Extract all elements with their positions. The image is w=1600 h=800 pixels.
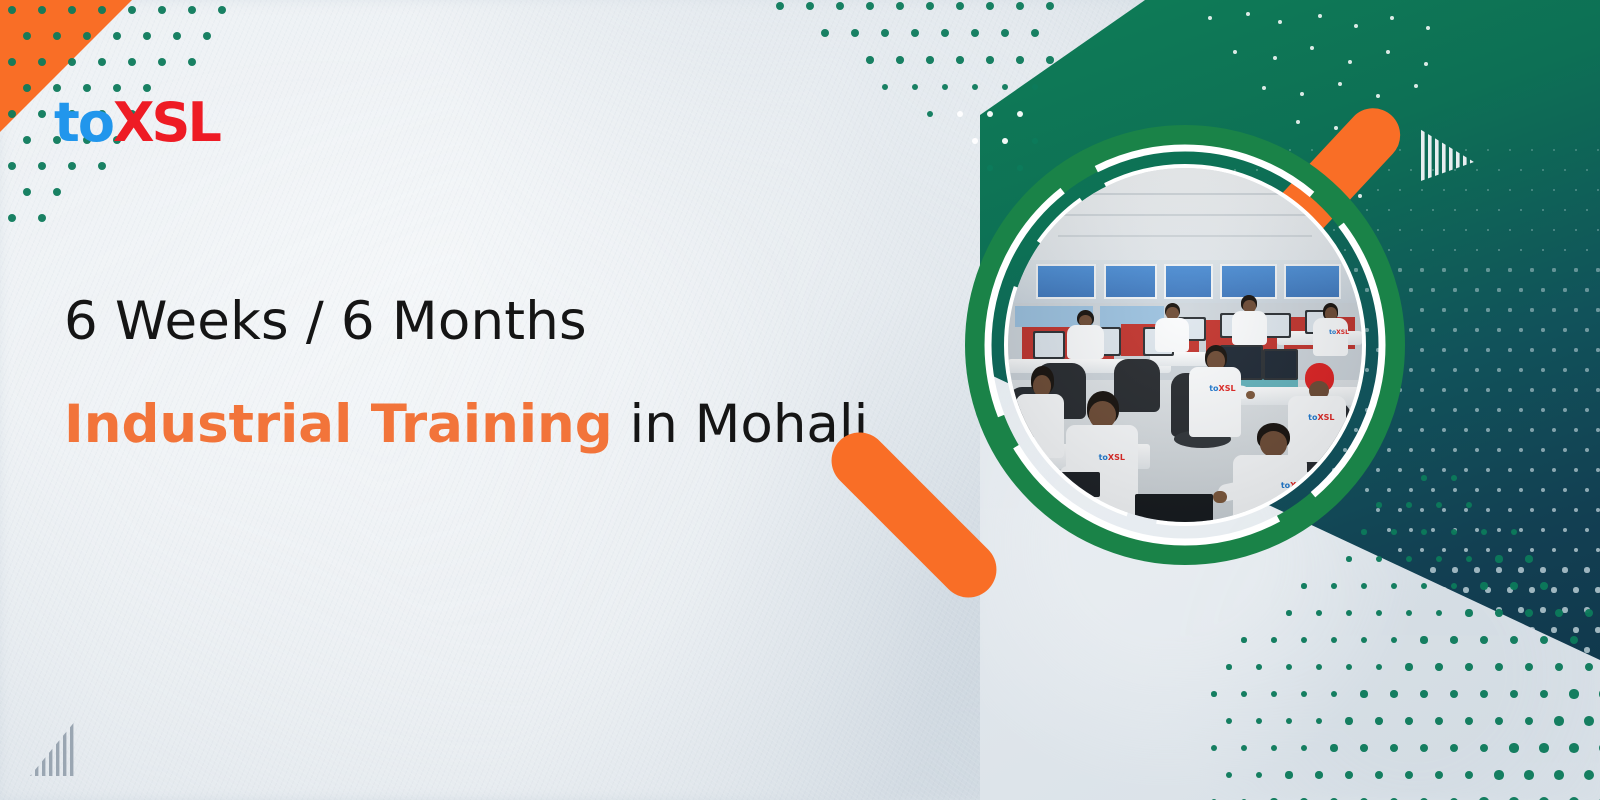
headline-line-1: 6 Weeks / 6 Months xyxy=(64,292,944,353)
brand-logo-to: to xyxy=(54,91,113,154)
headline-rest-text: in Mohali xyxy=(613,394,869,455)
brand-logo[interactable]: toXSL xyxy=(54,96,219,150)
magnifier-graphic: toXSL toXSL toXSL xyxy=(880,100,1460,660)
headline-accent-text: Industrial Training xyxy=(64,394,613,455)
striped-triangle-bottom-left-icon xyxy=(28,718,90,780)
headline-block: 6 Weeks / 6 Months Industrial Training i… xyxy=(64,292,944,456)
office-photo-scene: toXSL toXSL toXSL xyxy=(1008,168,1362,522)
banner-root: toXSL 6 Weeks / 6 Months Industrial Trai… xyxy=(0,0,1600,800)
headline-line-2: Industrial Training in Mohali xyxy=(64,395,944,456)
scene-vignette xyxy=(1008,168,1362,522)
magnifier-photo: toXSL toXSL toXSL xyxy=(1008,168,1362,522)
brand-logo-xsl: XSL xyxy=(113,91,219,154)
